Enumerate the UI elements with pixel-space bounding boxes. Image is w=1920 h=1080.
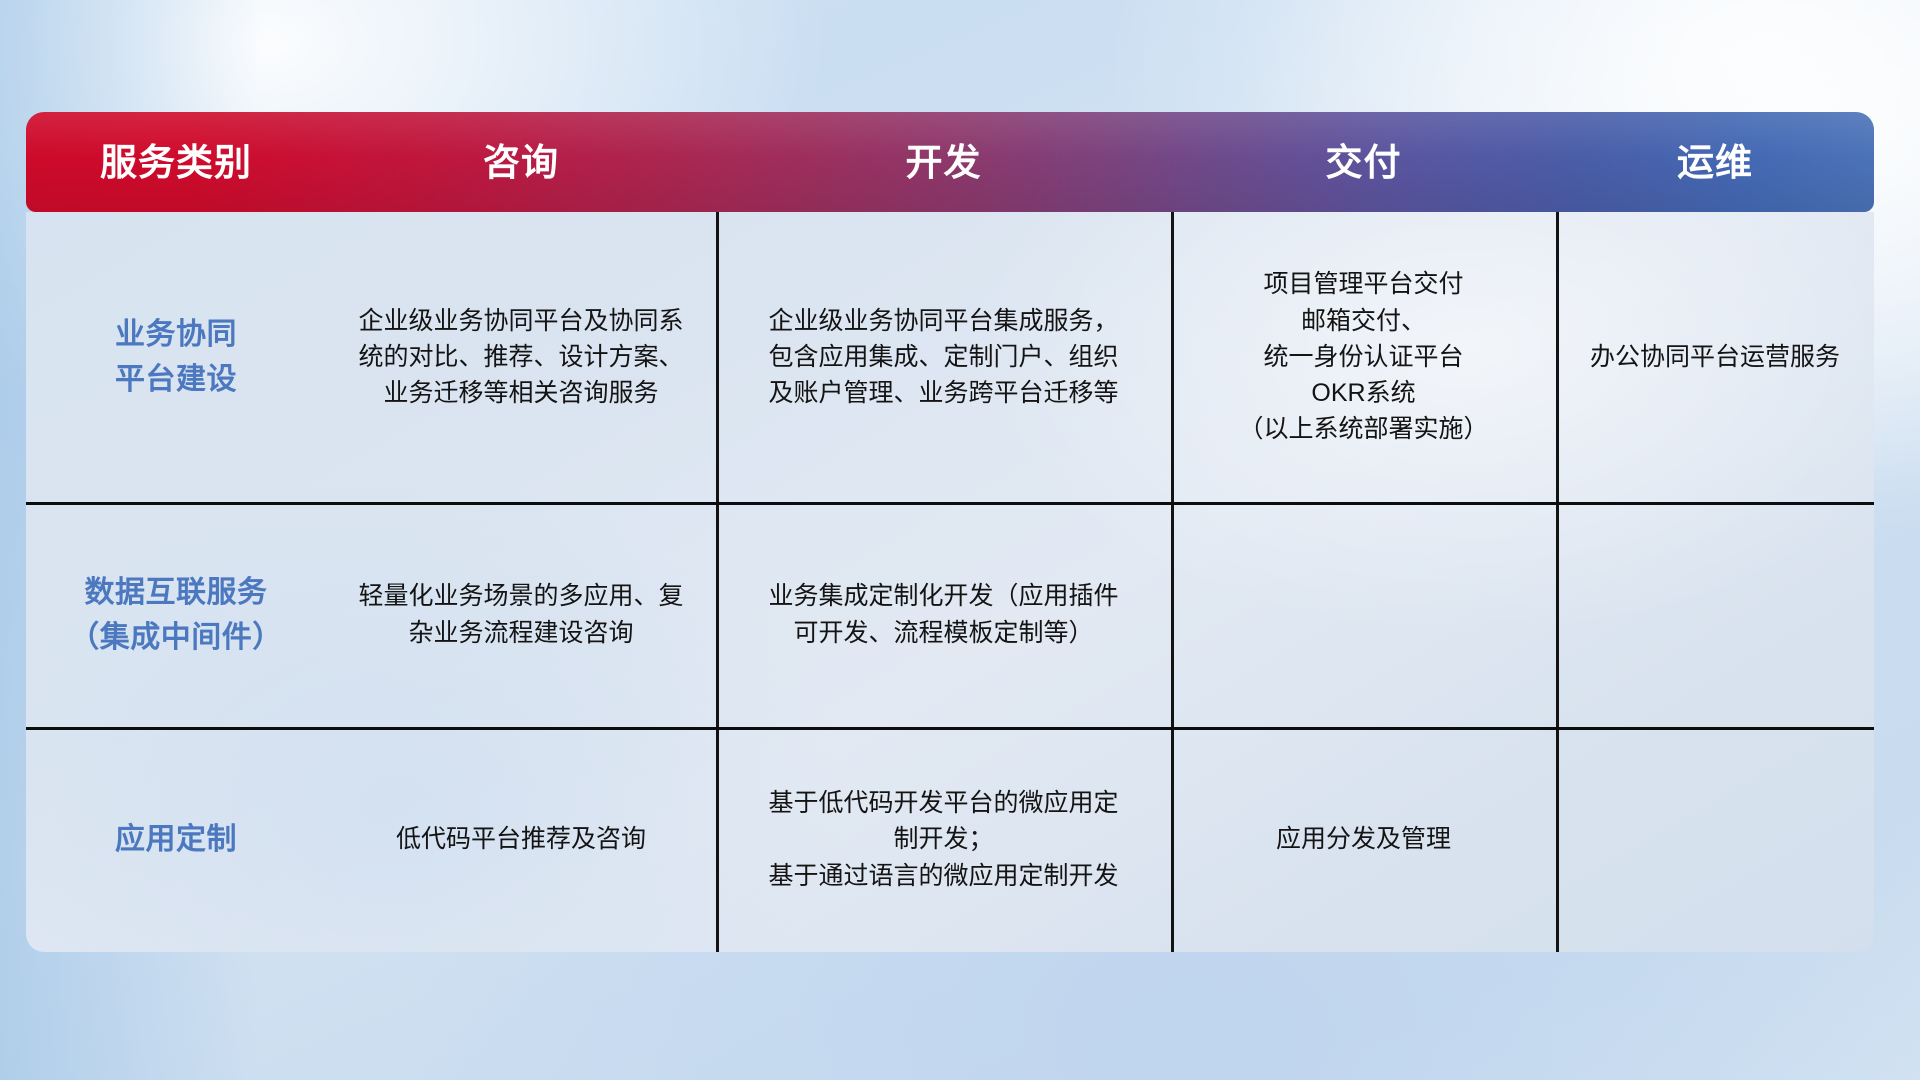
category-label: 应用定制: [115, 817, 237, 862]
cell-text: 应用分发及管理: [1276, 821, 1451, 857]
table-row: 应用定制 低代码平台推荐及咨询 基于低代码开发平台的微应用定 制开发； 基于通过…: [26, 727, 1874, 952]
cell-operations: 办公协同平台运营服务: [1556, 212, 1874, 502]
column-header-operations: 运维: [1556, 144, 1874, 181]
cell-text: 低代码平台推荐及咨询: [396, 821, 646, 857]
category-label: 业务协同 平台建设: [115, 312, 237, 402]
table-header-row: 服务类别 咨询 开发 交付 运维: [26, 112, 1874, 212]
cell-development: 业务集成定制化开发（应用插件 可开发、流程模板定制等）: [716, 502, 1171, 727]
cell-text: 办公协同平台运营服务: [1590, 339, 1840, 375]
cell-text: 企业级业务协同平台集成服务， 包含应用集成、定制门户、组织 及账户管理、业务跨平…: [768, 303, 1118, 412]
cell-category: 业务协同 平台建设: [26, 212, 326, 502]
table-row: 业务协同 平台建设 企业级业务协同平台及协同系 统的对比、推荐、设计方案、 业务…: [26, 212, 1874, 502]
cell-consulting: 企业级业务协同平台及协同系 统的对比、推荐、设计方案、 业务迁移等相关咨询服务: [326, 212, 716, 502]
row-divider-1: [26, 502, 1874, 505]
cell-category: 应用定制: [26, 727, 326, 952]
column-divider-1: [716, 212, 719, 952]
cell-delivery: 项目管理平台交付 邮箱交付、 统一身份认证平台 OKR系统 （以上系统部署实施）: [1171, 212, 1556, 502]
column-header-service-category: 服务类别: [26, 144, 326, 181]
category-label: 数据互联服务 （集成中间件）: [69, 570, 283, 660]
column-header-consulting: 咨询: [326, 144, 716, 181]
column-divider-2: [1171, 212, 1174, 952]
table-body: 业务协同 平台建设 企业级业务协同平台及协同系 统的对比、推荐、设计方案、 业务…: [26, 212, 1874, 952]
cell-consulting: 低代码平台推荐及咨询: [326, 727, 716, 952]
cell-delivery: [1171, 502, 1556, 727]
cell-category: 数据互联服务 （集成中间件）: [26, 502, 326, 727]
column-header-development: 开发: [716, 144, 1171, 181]
cell-consulting: 轻量化业务场景的多应用、复 杂业务流程建设咨询: [326, 502, 716, 727]
row-divider-2: [26, 727, 1874, 730]
cell-text: 业务集成定制化开发（应用插件 可开发、流程模板定制等）: [768, 578, 1118, 651]
cell-operations: [1556, 727, 1874, 952]
column-header-delivery: 交付: [1171, 144, 1556, 181]
cell-text: 企业级业务协同平台及协同系 统的对比、推荐、设计方案、 业务迁移等相关咨询服务: [358, 303, 683, 412]
cell-development: 企业级业务协同平台集成服务， 包含应用集成、定制门户、组织 及账户管理、业务跨平…: [716, 212, 1171, 502]
cell-development: 基于低代码开发平台的微应用定 制开发； 基于通过语言的微应用定制开发: [716, 727, 1171, 952]
service-matrix-table: 服务类别 咨询 开发 交付 运维 业务协同 平台建设 企业级业务协同平台及协同系…: [26, 112, 1874, 952]
cell-text: 项目管理平台交付 邮箱交付、 统一身份认证平台 OKR系统 （以上系统部署实施）: [1238, 266, 1488, 447]
column-divider-3: [1556, 212, 1559, 952]
cell-delivery: 应用分发及管理: [1171, 727, 1556, 952]
cell-text: 基于低代码开发平台的微应用定 制开发； 基于通过语言的微应用定制开发: [768, 785, 1118, 894]
table-row: 数据互联服务 （集成中间件） 轻量化业务场景的多应用、复 杂业务流程建设咨询 业…: [26, 502, 1874, 727]
cell-text: 轻量化业务场景的多应用、复 杂业务流程建设咨询: [358, 578, 683, 651]
cell-operations: [1556, 502, 1874, 727]
